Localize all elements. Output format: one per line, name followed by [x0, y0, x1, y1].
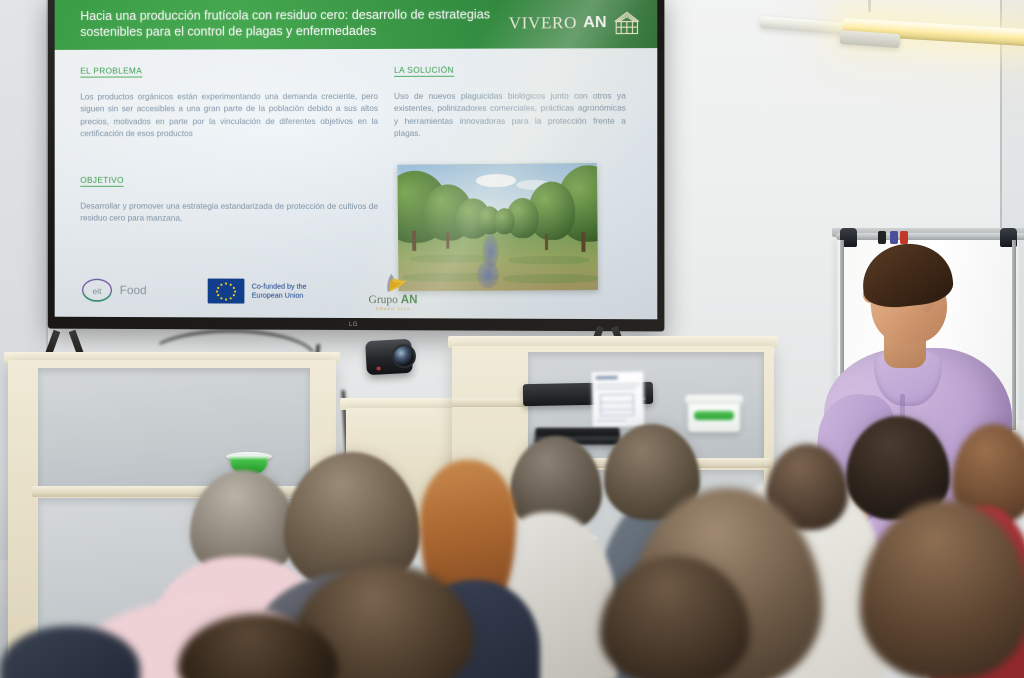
- tree-trunk: [412, 231, 416, 251]
- camera-indicator-light: [376, 366, 380, 370]
- tv-screen: Hacia una producción frutícola con resid…: [55, 0, 658, 319]
- storage-box-band: [694, 411, 734, 420]
- document-line: [596, 384, 640, 386]
- bird-icon: [376, 272, 410, 294]
- vivero-an-logo: VIVERO AN: [509, 9, 658, 36]
- slide-logo-row: eit Food: [80, 267, 640, 315]
- grupo-text: Grupo: [369, 294, 401, 306]
- slide-title: Hacia una producción frutícola con resid…: [55, 7, 509, 40]
- marker-black: [878, 231, 886, 244]
- tree-trunk: [581, 232, 585, 252]
- slide-header: Hacia una producción frutícola con resid…: [55, 0, 658, 50]
- marker-blue: [890, 231, 898, 244]
- television: Hacia una producción frutícola con resid…: [48, 0, 665, 331]
- grupo-an-label: Grupo AN: [369, 294, 418, 306]
- grupo-an-logo: Grupo AN GRUPO 1910: [369, 272, 418, 311]
- left-unit-upper-cavity: [38, 368, 310, 490]
- eit-circle-icon: eit: [80, 277, 113, 303]
- section-body-problema: Los productos orgánicos están experiment…: [80, 90, 378, 140]
- eit-food-label: Food: [120, 283, 147, 297]
- document-header: [596, 376, 618, 379]
- eu-funding-text: Co-funded by the European Union: [252, 281, 307, 300]
- eit-food-logo: eit Food: [80, 277, 146, 303]
- grupo-an-sub: GRUPO 1910: [369, 306, 418, 311]
- document-line: [596, 388, 636, 390]
- document-table: [600, 394, 634, 417]
- eu-line-1: Co-funded by the: [252, 281, 307, 291]
- tree-trunk: [545, 234, 548, 250]
- grass-row: [410, 254, 490, 263]
- svg-text:eit: eit: [93, 286, 102, 296]
- european-union-logo: Co-funded by the European Union: [208, 278, 307, 303]
- eu-flag-icon: [208, 278, 245, 303]
- document-line: [596, 420, 626, 422]
- board-marker-rail: [836, 233, 1024, 240]
- presentation-slide: Hacia una producción frutícola con resid…: [55, 0, 658, 319]
- eu-line-2: European Union: [252, 291, 307, 301]
- grass-row: [509, 256, 590, 265]
- storage-box-lid: [685, 395, 743, 404]
- light-stem: [868, 0, 871, 12]
- section-heading-problema: EL PROBLEMA: [80, 66, 142, 78]
- presentation-room-photo: Hacia una producción frutícola con resid…: [0, 0, 1024, 678]
- vivero-word: VIVERO: [509, 13, 577, 33]
- slide-column-left: EL PROBLEMA Los productos orgánicos está…: [80, 60, 378, 225]
- storage-box: [688, 400, 740, 432]
- section-heading-solucion: LA SOLUCIÓN: [394, 65, 454, 77]
- section-heading-objetivo: OBJETIVO: [80, 175, 124, 187]
- right-unit-side-ledge: [452, 398, 526, 407]
- shelf-document: [592, 372, 645, 428]
- greenhouse-icon: [613, 9, 641, 35]
- tree-trunk: [446, 233, 449, 249]
- section-body-solucion: Uso de nuevos plaguicidas biológicos jun…: [394, 89, 626, 139]
- an-text: AN: [401, 294, 418, 306]
- vivero-an-word: AN: [583, 13, 606, 31]
- slide-column-right: LA SOLUCIÓN Uso de nuevos plaguicidas bi…: [394, 59, 626, 139]
- conference-camera: [365, 339, 413, 375]
- section-body-objetivo: Desarrollar y promover una estrategia es…: [80, 199, 378, 224]
- objetivo-block: OBJETIVO Desarrollar y promover una estr…: [80, 170, 378, 225]
- tree: [494, 208, 514, 234]
- marker-red: [900, 231, 908, 244]
- tv-brand-label: LG: [349, 322, 358, 328]
